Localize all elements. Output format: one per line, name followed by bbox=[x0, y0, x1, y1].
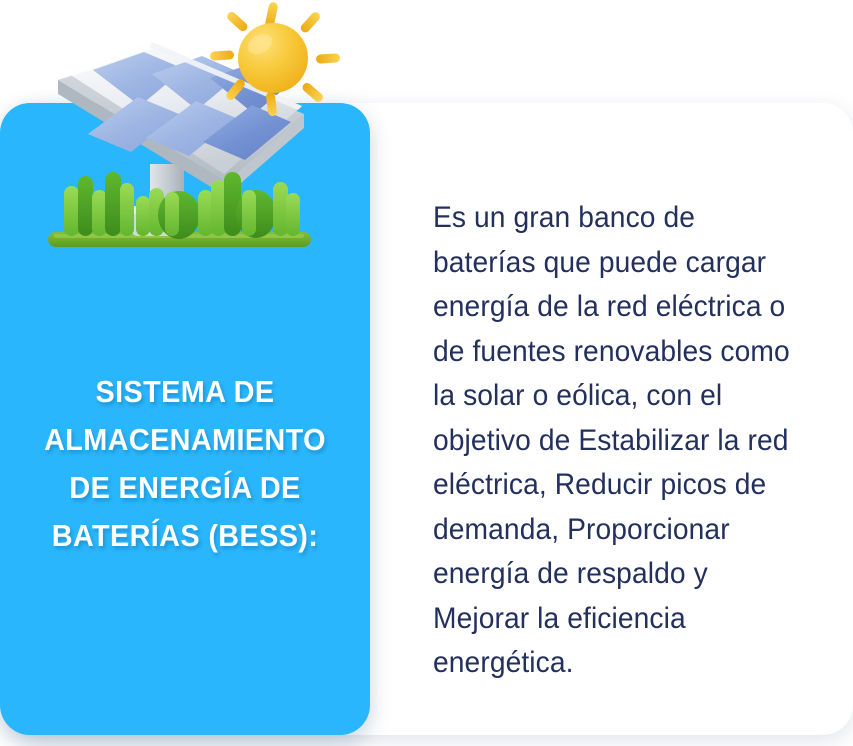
info-card: SISTEMA DE ALMACENAMIENTO DE ENERGÍA DE … bbox=[0, 0, 853, 746]
sun-icon bbox=[238, 23, 308, 93]
card-description: Es un gran banco de baterías que puede c… bbox=[433, 196, 795, 686]
solar-panel-with-sun-icon bbox=[28, 0, 348, 265]
card-title: SISTEMA DE ALMACENAMIENTO DE ENERGÍA DE … bbox=[13, 368, 357, 560]
